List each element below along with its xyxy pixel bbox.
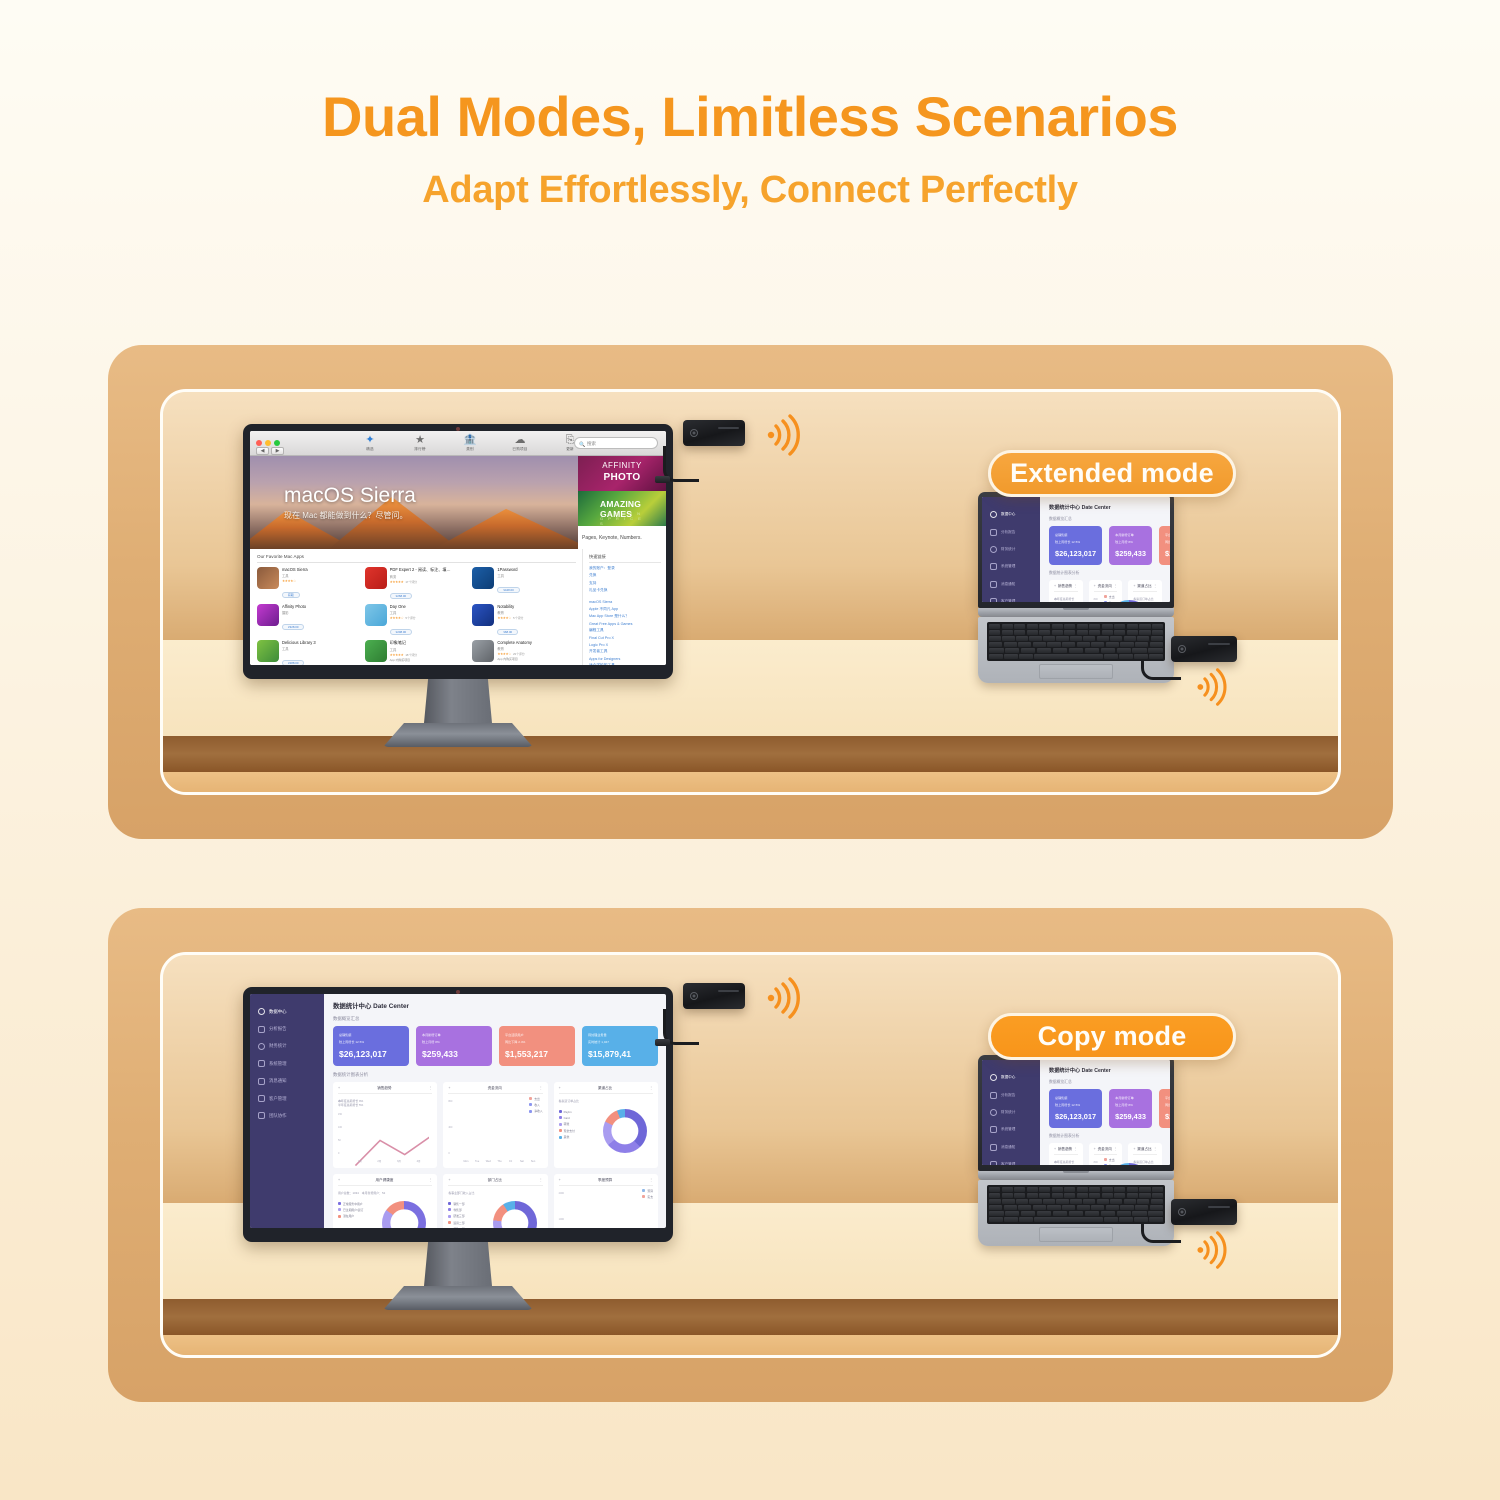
keyboard-row[interactable] — [989, 636, 1163, 641]
sidebar-item-system[interactable]: 系统管理 — [250, 1055, 324, 1072]
key[interactable] — [1085, 1211, 1100, 1216]
quick-link[interactable]: Logic Pro X — [589, 643, 661, 647]
key[interactable] — [1110, 636, 1122, 641]
key[interactable] — [989, 630, 1000, 635]
key[interactable] — [1053, 1211, 1068, 1216]
key[interactable] — [1152, 624, 1163, 629]
key[interactable] — [1148, 648, 1163, 653]
key[interactable] — [1019, 1217, 1033, 1222]
key[interactable] — [1104, 1217, 1118, 1222]
key[interactable] — [1139, 630, 1150, 635]
key[interactable] — [989, 1205, 1002, 1210]
key[interactable] — [1014, 1193, 1025, 1198]
key[interactable] — [1101, 648, 1116, 653]
key[interactable] — [1069, 648, 1084, 653]
app-list-item[interactable]: Complete Anatomy教育★★★★☆23 个评分App 内购买项目 — [472, 640, 576, 665]
key[interactable] — [1037, 1211, 1052, 1216]
y-axis: 200150100500 — [1054, 598, 1058, 603]
key[interactable] — [1019, 654, 1033, 659]
key[interactable] — [1134, 1217, 1148, 1222]
quick-link[interactable]: 编程工具 — [589, 628, 661, 633]
key[interactable] — [1091, 1205, 1104, 1210]
key[interactable] — [1037, 648, 1052, 653]
quick-link[interactable]: 我的账户：登录 — [589, 566, 661, 571]
key[interactable] — [1089, 1187, 1100, 1192]
donut-chart — [382, 1201, 426, 1229]
key[interactable] — [1002, 624, 1013, 629]
key[interactable] — [1014, 630, 1025, 635]
key[interactable] — [1120, 642, 1133, 647]
key[interactable] — [1101, 1211, 1116, 1216]
key[interactable] — [1052, 1193, 1063, 1198]
key[interactable] — [1016, 636, 1028, 641]
key[interactable] — [1018, 642, 1031, 647]
add-icon[interactable]: + — [338, 1086, 340, 1090]
key[interactable] — [1106, 642, 1119, 647]
more-icon[interactable]: ⋮ — [649, 1178, 653, 1182]
more-icon[interactable]: ⋮ — [1074, 1147, 1078, 1151]
add-icon[interactable]: + — [1054, 1147, 1056, 1151]
key[interactable] — [1114, 630, 1125, 635]
key[interactable] — [1152, 1193, 1163, 1198]
app-name: 印象笔记 — [390, 640, 417, 646]
sidebar-item-finance[interactable]: 财务统计 — [250, 1038, 324, 1055]
key[interactable] — [1119, 1217, 1133, 1222]
sidebar-item-finance[interactable]: 财务统计 — [982, 1104, 1040, 1121]
badge-extended-mode: Extended mode — [988, 450, 1236, 497]
more-icon[interactable]: ⋮ — [1074, 584, 1078, 588]
hero-banner[interactable]: macOS Sierra 现在 Mac 都能做到什么？尽管问。 — [250, 456, 578, 549]
key[interactable] — [989, 1199, 1001, 1204]
key[interactable] — [1114, 624, 1125, 629]
key[interactable] — [989, 1211, 1004, 1216]
key[interactable] — [1151, 1199, 1163, 1204]
tab-purchased[interactable]: ☁ 已购项目 — [503, 434, 537, 452]
quick-links-bottom[interactable]: macOS SierraApple 不同凡 AppMac App Store 是… — [589, 600, 661, 665]
key[interactable] — [1027, 1187, 1038, 1192]
app-list-item[interactable]: PDF Expert 2 - 阅读、标注、填…商务★★★★★17 个评分¥268… — [365, 567, 469, 602]
key[interactable] — [1027, 630, 1038, 635]
key[interactable] — [1077, 1205, 1090, 1210]
key[interactable] — [1077, 630, 1088, 635]
key[interactable] — [1047, 642, 1060, 647]
key[interactable] — [1027, 624, 1038, 629]
app-price-button[interactable]: ¥448.00 — [497, 587, 519, 593]
chart-note: 各事业部门收入占比 — [448, 1191, 474, 1195]
key[interactable] — [1034, 654, 1102, 659]
app-price-button[interactable]: ¥328.00 — [282, 624, 304, 630]
key[interactable] — [1135, 642, 1148, 647]
keyboard-row[interactable] — [989, 1193, 1163, 1198]
key[interactable] — [989, 1187, 1000, 1192]
quick-link[interactable]: Apps for Designers — [589, 657, 661, 661]
nav-buttons[interactable]: ◀ ▶ — [256, 447, 284, 455]
chart-widget[interactable]: +资金流向⋮MonTueWedThuFriSatSun8004000支出收入净收… — [443, 1082, 547, 1168]
key[interactable] — [1124, 1199, 1136, 1204]
keyboard-row[interactable] — [989, 654, 1163, 659]
quick-link[interactable]: 支持 — [589, 581, 661, 586]
key[interactable] — [1021, 648, 1036, 653]
key[interactable] — [1064, 1187, 1075, 1192]
app-name: macOS Sierra — [282, 567, 308, 572]
promo-caption: Pages, Keynote, Numbers. — [578, 526, 666, 541]
key[interactable] — [1021, 1211, 1036, 1216]
more-icon[interactable]: ⋮ — [539, 1178, 543, 1182]
app-price-button[interactable]: 获取 — [282, 592, 300, 598]
keyboard-row[interactable] — [989, 1217, 1163, 1222]
key[interactable] — [1064, 1193, 1075, 1198]
key[interactable] — [1070, 1199, 1082, 1204]
key[interactable] — [989, 624, 1000, 629]
keyboard-row[interactable] — [989, 648, 1163, 653]
key[interactable] — [1102, 1193, 1113, 1198]
y-axis: 200150100500 — [1054, 1161, 1058, 1166]
app-list-item[interactable]: Notability教育★★★★☆5 个评分¥68.00 — [472, 604, 576, 638]
key[interactable] — [1148, 1211, 1163, 1216]
chart-widget[interactable]: +资金流向⋮MonTueWedThuFriSatSun8004000支出收入净收… — [1089, 580, 1123, 603]
key[interactable] — [1110, 1199, 1122, 1204]
key[interactable] — [1132, 648, 1147, 653]
key[interactable] — [1097, 1199, 1109, 1204]
key[interactable] — [1089, 1193, 1100, 1198]
key[interactable] — [1150, 642, 1163, 647]
key[interactable] — [1018, 1205, 1031, 1210]
key[interactable] — [989, 648, 1004, 653]
app-price-button[interactable]: ¥268.00 — [390, 593, 412, 599]
key[interactable] — [1083, 636, 1095, 641]
quick-link[interactable]: macOS Sierra — [589, 600, 661, 604]
add-icon[interactable]: + — [559, 1178, 561, 1182]
key[interactable] — [1004, 1205, 1017, 1210]
sidebar-item-report[interactable]: 分析报告 — [982, 523, 1040, 540]
key[interactable] — [1077, 1193, 1088, 1198]
more-icon[interactable]: ⋮ — [1153, 1147, 1157, 1151]
chart-widget[interactable]: +渠道占比⋮各渠道订单占比PaytmCard转账现金支付其他 — [1128, 580, 1162, 603]
key[interactable] — [1033, 642, 1046, 647]
key[interactable] — [1005, 648, 1020, 653]
tab-purchased-label: 已购项目 — [503, 447, 537, 452]
laptop-trackpad[interactable] — [1039, 664, 1114, 679]
key[interactable] — [1089, 630, 1100, 635]
key[interactable] — [1127, 624, 1138, 629]
sidebar-item-report[interactable]: 分析报告 — [982, 1086, 1040, 1103]
key[interactable] — [1083, 1199, 1095, 1204]
key[interactable] — [1053, 648, 1068, 653]
sidebar-item-bell[interactable]: 消息通知 — [982, 576, 1040, 593]
key[interactable] — [1064, 630, 1075, 635]
key[interactable] — [1043, 636, 1055, 641]
chart-widget[interactable]: +资金流向⋮MonTueWedThuFriSatSun8004000支出收入净收… — [1089, 1143, 1123, 1166]
key[interactable] — [1102, 630, 1113, 635]
app-name: 1Password — [497, 567, 519, 572]
key[interactable] — [1139, 1193, 1150, 1198]
key[interactable] — [1002, 1187, 1013, 1192]
sidebar-item-system[interactable]: 系统管理 — [982, 558, 1040, 575]
add-icon[interactable]: + — [1094, 584, 1096, 588]
key[interactable] — [1102, 624, 1113, 629]
zoom-icon[interactable] — [274, 440, 280, 446]
key[interactable] — [1029, 636, 1041, 641]
key[interactable] — [1091, 642, 1104, 647]
sidebar-item-dashboard[interactable]: 数据中心 — [250, 1003, 324, 1020]
key[interactable] — [1043, 1199, 1055, 1204]
close-icon[interactable] — [256, 440, 262, 446]
key[interactable] — [1039, 624, 1050, 629]
tab-top-charts[interactable]: ★ 排行榜 — [403, 434, 437, 452]
y-axis: 8004000 — [1094, 598, 1098, 603]
sidebar-item-dashboard[interactable]: 数据中心 — [982, 506, 1040, 523]
key[interactable] — [1102, 1187, 1113, 1192]
chart-widget[interactable]: +部门占比⋮各事业部门收入占比销售一部零售部研发三部运营二部采购二部 — [443, 1174, 547, 1229]
wireless-dock-monitor[interactable] — [683, 420, 745, 446]
quick-link[interactable]: Apple 不同凡 App — [589, 607, 661, 612]
key[interactable] — [1137, 636, 1149, 641]
sidebar-item-label: 消息通知 — [269, 1078, 287, 1084]
key[interactable] — [989, 654, 1003, 659]
dashboard-nav[interactable]: 数据中心分析报告财务统计系统管理消息通知客户管理团队协作 — [982, 1069, 1040, 1165]
wireless-dock-monitor[interactable] — [683, 983, 745, 1009]
app-iap-note: App 内购买项目 — [497, 657, 532, 661]
key[interactable] — [1027, 1193, 1038, 1198]
key[interactable] — [1069, 1211, 1084, 1216]
appstore-tabs[interactable]: ✦ 精选 ★ 排行榜 🏦 类别 — [353, 434, 587, 452]
quick-link[interactable]: 适合学校的工具 — [589, 663, 661, 665]
chart-widget[interactable]: +季度预算⋮广东北京重庆Huaxin北京四川成都200010000预算实支 — [554, 1174, 658, 1229]
dashboard-sidebar[interactable]: 数据中心分析报告财务统计系统管理消息通知客户管理团队协作 — [250, 994, 324, 1228]
key[interactable] — [1014, 1187, 1025, 1192]
key[interactable] — [1117, 648, 1132, 653]
wireless-dock-laptop[interactable] — [1171, 1199, 1237, 1225]
laptop-trackpad[interactable] — [1039, 1227, 1114, 1242]
quick-link[interactable]: Final Cut Pro X — [589, 636, 661, 640]
more-icon[interactable]: ⋮ — [1153, 584, 1157, 588]
sidebar-item-dashboard[interactable]: 数据中心 — [982, 1069, 1040, 1086]
keyboard-row[interactable] — [989, 1211, 1163, 1216]
sidebar-item-user[interactable]: 客户管理 — [982, 593, 1040, 602]
key[interactable] — [1002, 636, 1014, 641]
key[interactable] — [1039, 1187, 1050, 1192]
dashboard-sidebar[interactable]: 数据中心分析报告财务统计系统管理消息通知客户管理团队协作 — [982, 497, 1040, 602]
key[interactable] — [1052, 624, 1063, 629]
key[interactable] — [1150, 1205, 1163, 1210]
key[interactable] — [1005, 1211, 1020, 1216]
key[interactable] — [1039, 1193, 1050, 1198]
key[interactable] — [1062, 1205, 1075, 1210]
key[interactable] — [989, 642, 1002, 647]
chart-widget[interactable]: +销售趋势⋮本年度总颟增长 9%半年度总颟增长 5%2001501005001月… — [333, 1082, 437, 1168]
star-icon: ★ — [403, 434, 437, 446]
wireless-dock-laptop[interactable] — [1171, 636, 1237, 662]
promo-games-line2: A M A Z I N G P R I C E S — [600, 511, 644, 526]
back-icon[interactable]: ◀ — [256, 447, 269, 455]
key[interactable] — [1002, 630, 1013, 635]
key[interactable] — [1152, 630, 1163, 635]
add-icon[interactable]: + — [1133, 1147, 1135, 1151]
quick-link[interactable]: Mac App Store 是什么？ — [589, 614, 661, 619]
more-icon[interactable]: ⋮ — [649, 1086, 653, 1090]
key[interactable] — [1077, 642, 1090, 647]
chart-area: MonTueWedThuFriSatSun8004000支出收入净收入 — [448, 1098, 542, 1164]
promo-affinity[interactable]: AFFINITY PHOTO — [578, 456, 666, 491]
chart-widget[interactable]: +渠道占比⋮各渠道订单占比PaytmCard转账现金支付其他 — [1128, 1143, 1162, 1166]
key[interactable] — [1085, 648, 1100, 653]
key[interactable] — [989, 636, 1001, 641]
window-controls[interactable] — [256, 440, 280, 446]
floor — [163, 1335, 1338, 1355]
sidebar-item-report[interactable]: 分析报告 — [250, 1020, 324, 1037]
finance-icon — [990, 1109, 997, 1116]
key[interactable] — [989, 1217, 1003, 1222]
key[interactable] — [1152, 1187, 1163, 1192]
sidebar-item-bell[interactable]: 消息通知 — [250, 1073, 324, 1090]
app-list-item[interactable]: Affinity Photo摄影¥328.00 — [257, 604, 361, 638]
key[interactable] — [1114, 1193, 1125, 1198]
chart-area: 本年度总颟增长 9%半年度总颟增长 5%2001501005001月2月3月4月 — [1054, 596, 1078, 603]
add-icon[interactable]: + — [1054, 584, 1056, 588]
add-icon[interactable]: + — [448, 1086, 450, 1090]
dashboard-nav[interactable]: 数据中心分析报告财务统计系统管理消息通知客户管理团队协作 — [982, 506, 1040, 602]
add-icon[interactable]: + — [338, 1178, 340, 1182]
sidebar-item-team[interactable]: 团队协作 — [250, 1107, 324, 1124]
sidebar-item-user[interactable]: 客户管理 — [982, 1156, 1040, 1165]
key[interactable] — [1127, 1193, 1138, 1198]
forward-icon[interactable]: ▶ — [271, 447, 284, 455]
key[interactable] — [1029, 1199, 1041, 1204]
key[interactable] — [1127, 1187, 1138, 1192]
chart-widget[interactable]: +用户健康度⋮用户总数：1034 本月新增用户：52正常服务中用户已过期用户/退… — [333, 1174, 437, 1229]
app-list-item[interactable]: macOS Sierra工具★★★★☆获取 — [257, 567, 361, 602]
key[interactable] — [1077, 624, 1088, 629]
key[interactable] — [1034, 1217, 1102, 1222]
key[interactable] — [1135, 1205, 1148, 1210]
key[interactable] — [1127, 630, 1138, 635]
key[interactable] — [1064, 624, 1075, 629]
key[interactable] — [1077, 1187, 1088, 1192]
more-icon[interactable]: ⋮ — [1114, 1147, 1118, 1151]
kpi-sublabel: 较上周增长 12.5% — [339, 1039, 403, 1044]
promo-games[interactable]: AMAZING GAMES A M A Z I N G P R I C E S — [578, 491, 666, 526]
key[interactable] — [1002, 1199, 1014, 1204]
key[interactable] — [1004, 1217, 1018, 1222]
more-icon[interactable]: ⋮ — [429, 1178, 433, 1182]
key[interactable] — [1149, 654, 1163, 659]
sidebar-item-finance[interactable]: 财务统计 — [982, 541, 1040, 558]
more-icon[interactable]: ⋮ — [1114, 584, 1118, 588]
key[interactable] — [1004, 642, 1017, 647]
search-input[interactable]: 搜索 — [574, 437, 658, 449]
key[interactable] — [1139, 624, 1150, 629]
dashboard-sidebar[interactable]: 数据中心分析报告财务统计系统管理消息通知客户管理团队协作 — [982, 1060, 1040, 1165]
key[interactable] — [1114, 1187, 1125, 1192]
more-icon[interactable]: ⋮ — [539, 1086, 543, 1090]
chart-area: 本年度总颟增长 9%半年度总颟增长 5%2001501005001月2月3月4月 — [1054, 1159, 1078, 1166]
app-price-button[interactable]: ¥68.00 — [497, 629, 518, 635]
app-list-item[interactable]: 1Password工具¥448.00 — [472, 567, 576, 602]
key[interactable] — [1047, 1205, 1060, 1210]
key[interactable] — [1052, 1187, 1063, 1192]
key[interactable] — [1134, 654, 1148, 659]
key[interactable] — [1002, 1193, 1013, 1198]
key[interactable] — [1139, 1187, 1150, 1192]
add-icon[interactable]: + — [1094, 1147, 1096, 1151]
keyboard-row[interactable] — [989, 1187, 1163, 1192]
key[interactable] — [989, 1193, 1000, 1198]
keyboard-row[interactable] — [989, 624, 1163, 629]
key[interactable] — [1039, 630, 1050, 635]
chart-widget[interactable]: +销售趋势⋮本年度总颟增长 9%半年度总颟增长 5%2001501005001月… — [1049, 1143, 1083, 1166]
key[interactable] — [1016, 1199, 1028, 1204]
key[interactable] — [1062, 642, 1075, 647]
app-category: 摄影 — [282, 610, 306, 615]
sidebar-item-user[interactable]: 客户管理 — [250, 1090, 324, 1107]
key[interactable] — [1004, 654, 1018, 659]
quick-link[interactable]: 兑换 — [589, 573, 661, 578]
key[interactable] — [1014, 624, 1025, 629]
laptop-keyboard[interactable] — [987, 1185, 1165, 1224]
add-icon[interactable]: + — [1133, 584, 1135, 588]
keyboard-row[interactable] — [989, 642, 1163, 647]
sidebar-item-bell[interactable]: 消息通知 — [982, 1139, 1040, 1156]
key[interactable] — [1056, 1199, 1068, 1204]
chart-widget[interactable]: +销售趋势⋮本年度总颟增长 9%半年度总颟增长 5%2001501005001月… — [1049, 580, 1083, 603]
quick-link[interactable]: 开发者工具 — [589, 649, 661, 654]
key[interactable] — [1124, 636, 1136, 641]
key[interactable] — [1056, 636, 1068, 641]
key[interactable] — [1052, 630, 1063, 635]
tab-featured[interactable]: ✦ 精选 — [353, 434, 387, 452]
key[interactable] — [1097, 636, 1109, 641]
key[interactable] — [1106, 1205, 1119, 1210]
keyboard-row[interactable] — [989, 1199, 1163, 1204]
chart-area: 各渠道订单占比PaytmCard转账现金支付其他 — [559, 1098, 653, 1164]
add-icon[interactable]: + — [559, 1086, 561, 1090]
app-price-button[interactable]: ¥208.00 — [390, 629, 412, 635]
chart-widget[interactable]: +渠道占比⋮各渠道订单占比PaytmCard转账现金支付其他 — [554, 1082, 658, 1168]
key[interactable] — [1151, 636, 1163, 641]
key[interactable] — [1104, 654, 1118, 659]
app-list-item[interactable]: Day One工具★★★★☆5 个评分¥208.00 — [365, 604, 469, 638]
add-icon[interactable]: + — [448, 1178, 450, 1182]
quick-links-top[interactable]: 我的账户：登录兑换支持礼品卡兑换 — [589, 566, 661, 594]
sidebar-item-label: 分析报告 — [269, 1026, 287, 1032]
key[interactable] — [1033, 1205, 1046, 1210]
tab-categories[interactable]: 🏦 类别 — [453, 434, 487, 452]
more-icon[interactable]: ⋮ — [429, 1086, 433, 1090]
legend: 销售一部零售部研发三部运营二部采购二部 — [448, 1202, 464, 1229]
laptop-keyboard[interactable] — [987, 622, 1165, 661]
minimize-icon[interactable] — [265, 440, 271, 446]
kpi-value: $1,553,217 — [1165, 1112, 1170, 1121]
key[interactable] — [1149, 1217, 1163, 1222]
key[interactable] — [1120, 1205, 1133, 1210]
app-list-item[interactable]: Delicious Library 3工具¥288.00 — [257, 640, 361, 665]
key[interactable] — [1070, 636, 1082, 641]
key[interactable] — [1089, 624, 1100, 629]
sidebar-item-system[interactable]: 系统管理 — [982, 1121, 1040, 1138]
app-list-item[interactable]: 印象笔记工具★★★★★18 个评分App 内购买项目 — [365, 640, 469, 665]
key[interactable] — [1117, 1211, 1132, 1216]
key[interactable] — [1137, 1199, 1149, 1204]
laptop-lid: 数据中心分析报告财务统计系统管理消息通知客户管理团队协作 数据统计中心 Date… — [978, 492, 1174, 608]
dashboard-nav[interactable]: 数据中心分析报告财务统计系统管理消息通知客户管理团队协作 — [250, 1003, 324, 1125]
keyboard-row[interactable] — [989, 1205, 1163, 1210]
key[interactable] — [1132, 1211, 1147, 1216]
app-price-button[interactable]: ¥288.00 — [282, 660, 304, 665]
keyboard-row[interactable] — [989, 630, 1163, 635]
key[interactable] — [1119, 654, 1133, 659]
laptop-hinge — [978, 1171, 1174, 1180]
quick-link[interactable]: Great Free Apps & Games — [589, 622, 661, 626]
